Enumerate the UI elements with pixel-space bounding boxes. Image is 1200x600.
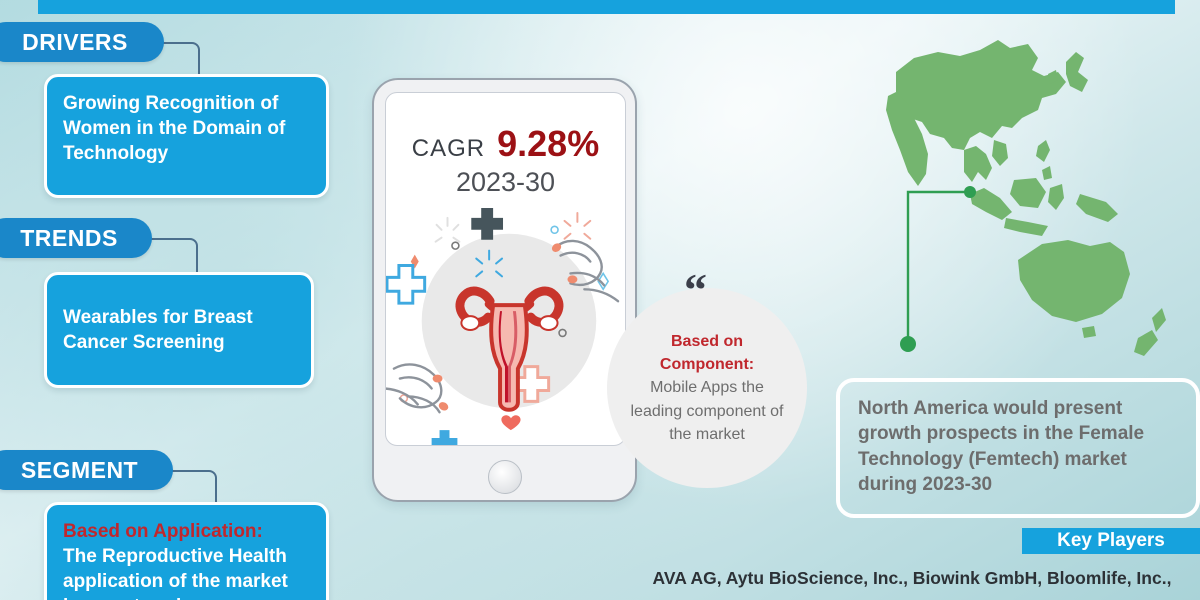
section-pill-drivers[interactable]: DRIVERS [0, 22, 164, 62]
callout-text: Mobile Apps the leading component of the… [629, 376, 785, 446]
asia-pacific-map [852, 22, 1200, 392]
phone-home-button[interactable] [488, 460, 522, 494]
section-pill-segment[interactable]: SEGMENT [0, 450, 173, 490]
key-players-badge[interactable]: Key Players [1022, 528, 1200, 554]
card-trends-text: Wearables for Breast Cancer Screening [63, 305, 295, 355]
cagr-row: CAGR 9.28% [386, 123, 625, 165]
connector-segment-corner [203, 470, 217, 484]
reproductive-health-illustration [386, 203, 625, 446]
callout-heading: Based on Component: [629, 330, 785, 376]
connector-trends-corner [184, 238, 198, 252]
pill-label: DRIVERS [22, 29, 128, 56]
card-drivers[interactable]: Growing Recognition of Women in the Doma… [44, 74, 329, 198]
key-players-list: AVA AG, Aytu BioScience, Inc., Biowink G… [624, 566, 1200, 591]
card-drivers-text: Growing Recognition of Women in the Doma… [63, 93, 285, 164]
phone-screen: CAGR 9.28% 2023-30 [385, 92, 626, 446]
section-pill-trends[interactable]: TRENDS [0, 218, 152, 258]
pill-label: TRENDS [20, 225, 118, 252]
cagr-period: 2023-30 [386, 167, 625, 198]
quote-icon: “ [684, 276, 707, 304]
top-accent-bar [38, 0, 1175, 14]
card-segment[interactable]: Based on Application: The Reproductive H… [44, 502, 329, 600]
connector-drivers-corner [186, 42, 200, 56]
card-segment-heading: Based on Application: [63, 519, 310, 544]
card-trends[interactable]: Wearables for Breast Cancer Screening [44, 272, 314, 388]
component-callout[interactable]: Based on Component: Mobile Apps the lead… [607, 288, 807, 488]
cagr-label: CAGR [412, 135, 485, 163]
region-insight-card[interactable]: North America would present growth prosp… [836, 378, 1200, 518]
card-segment-text: The Reproductive Health application of t… [63, 546, 288, 600]
key-players-label: Key Players [1057, 530, 1165, 552]
cagr-value: 9.28% [497, 123, 599, 165]
region-insight-text: North America would present growth prosp… [858, 398, 1144, 495]
pill-label: SEGMENT [21, 457, 138, 484]
phone-mockup: CAGR 9.28% 2023-30 [372, 78, 637, 502]
